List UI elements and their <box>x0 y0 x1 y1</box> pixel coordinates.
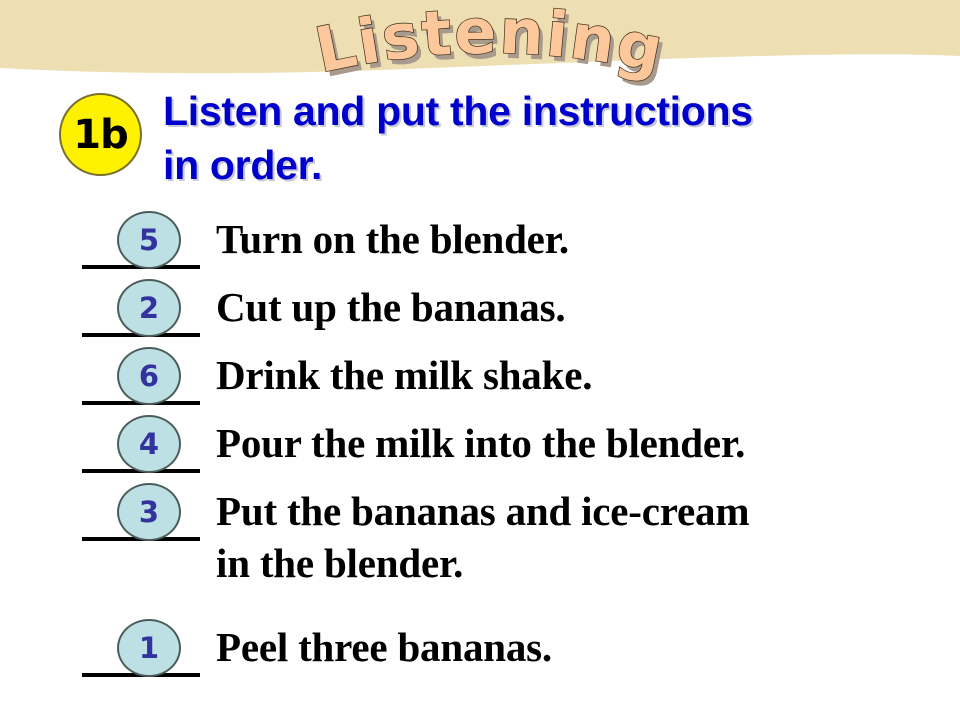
answer-number-label: 6 <box>139 362 159 391</box>
step-text: Drink the milk shake. <box>216 349 592 401</box>
answer-number-bubble[interactable]: 1 <box>117 619 181 677</box>
exercise-number-badge: 1b <box>59 93 142 176</box>
list-item: 1 Peel three bananas. <box>0 617 960 685</box>
step-text: Cut up the bananas. <box>216 281 565 333</box>
list-item: 3 Put the bananas and ice-cream in the b… <box>0 481 960 617</box>
list-item: 5 Turn on the blender. <box>0 209 960 277</box>
header-band-shape <box>0 0 960 73</box>
step-text: Peel three bananas. <box>216 621 552 673</box>
step-text-line-1: Drink the milk shake. <box>216 349 592 401</box>
answer-number-label: 2 <box>139 294 159 323</box>
instruction-line-2: in order. <box>163 138 923 192</box>
step-text-line-1: Cut up the bananas. <box>216 281 565 333</box>
step-text-line-1: Pour the milk into the blender. <box>216 417 745 469</box>
answer-number-label: 3 <box>139 498 159 527</box>
step-text-line-1: Peel three bananas. <box>216 621 552 673</box>
list-item: 2 Cut up the bananas. <box>0 277 960 345</box>
instruction-text: Listen and put the instructions in order… <box>163 84 923 192</box>
answer-number-label: 4 <box>139 430 159 459</box>
answer-number-bubble[interactable]: 4 <box>117 415 181 473</box>
answer-number-bubble[interactable]: 5 <box>117 211 181 269</box>
instruction-line-1: Listen and put the instructions <box>163 84 923 138</box>
exercise-number-label: 1b <box>73 115 127 155</box>
answer-number-bubble[interactable]: 6 <box>117 347 181 405</box>
step-text-line-1: Put the bananas and ice-cream <box>216 485 749 537</box>
step-text-line-2: in the blender. <box>216 537 749 589</box>
answer-number-bubble[interactable]: 3 <box>117 483 181 541</box>
list-item: 6 Drink the milk shake. <box>0 345 960 413</box>
step-text: Pour the milk into the blender. <box>216 417 745 469</box>
list-item: 4 Pour the milk into the blender. <box>0 413 960 481</box>
step-text-line-1: Turn on the blender. <box>216 213 569 265</box>
step-text: Turn on the blender. <box>216 213 569 265</box>
answer-number-bubble[interactable]: 2 <box>117 279 181 337</box>
steps-list: 5 Turn on the blender. 2 Cut up the bana… <box>0 209 960 685</box>
answer-number-label: 1 <box>139 634 159 663</box>
step-text: Put the bananas and ice-cream in the ble… <box>216 485 749 589</box>
answer-number-label: 5 <box>139 226 159 255</box>
header-band <box>0 0 960 90</box>
